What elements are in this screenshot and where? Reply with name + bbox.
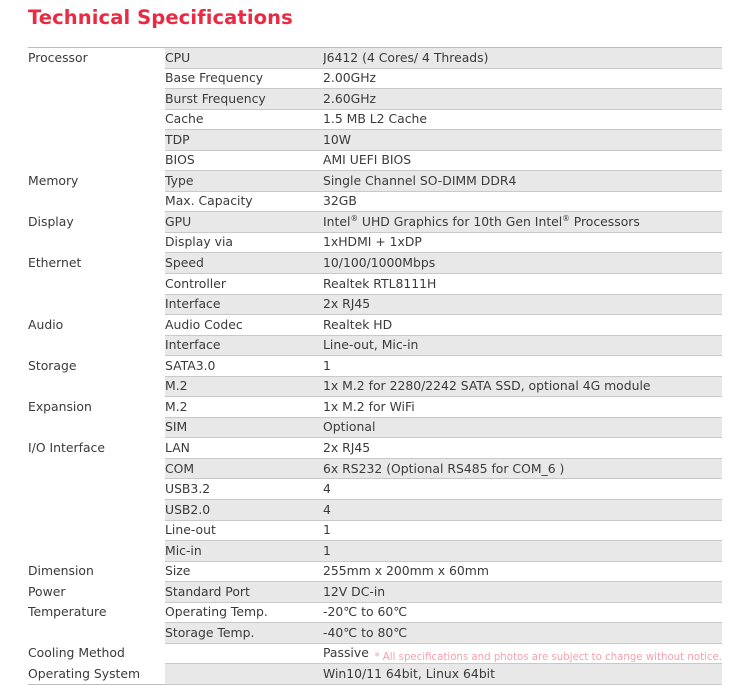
spec-category-cell bbox=[28, 150, 165, 171]
spec-subitem-cell: TDP bbox=[165, 130, 323, 151]
spec-category-cell: Memory bbox=[28, 171, 165, 192]
table-row: AudioAudio CodecRealtek HD bbox=[28, 315, 722, 336]
spec-subitem-cell bbox=[165, 643, 323, 664]
spec-value-cell: 2x RJ45 bbox=[323, 294, 722, 315]
spec-category-cell bbox=[28, 130, 165, 151]
spec-category-cell bbox=[28, 623, 165, 644]
table-row: Interface2x RJ45 bbox=[28, 294, 722, 315]
spec-subitem-cell: USB3.2 bbox=[165, 479, 323, 500]
table-row: MemoryTypeSingle Channel SO-DIMM DDR4 bbox=[28, 171, 722, 192]
spec-value-cell: Line-out, Mic-in bbox=[323, 335, 722, 356]
table-row: TDP10W bbox=[28, 130, 722, 151]
spec-category-cell: Dimension bbox=[28, 561, 165, 582]
spec-value-cell: 2x RJ45 bbox=[323, 438, 722, 459]
spec-value-cell: 10W bbox=[323, 130, 722, 151]
spec-value-cell: AMI UEFI BIOS bbox=[323, 150, 722, 171]
spec-subitem-cell: LAN bbox=[165, 438, 323, 459]
table-row: Mic-in1 bbox=[28, 541, 722, 562]
spec-subitem-cell: COM bbox=[165, 458, 323, 479]
spec-subitem-cell: GPU bbox=[165, 212, 323, 233]
spec-subitem-cell: Size bbox=[165, 561, 323, 582]
spec-value-cell: 2.60GHz bbox=[323, 89, 722, 110]
table-row: DimensionSize255mm x 200mm x 60mm bbox=[28, 561, 722, 582]
spec-category-cell bbox=[28, 89, 165, 110]
spec-subitem-cell: M.2 bbox=[165, 376, 323, 397]
spec-category-cell: Temperature bbox=[28, 602, 165, 623]
spec-subitem-cell: Cache bbox=[165, 109, 323, 130]
spec-value-cell: 4 bbox=[323, 500, 722, 521]
spec-value-cell: 1xHDMI + 1xDP bbox=[323, 232, 722, 253]
spec-value-cell: 1x M.2 for 2280/2242 SATA SSD, optional … bbox=[323, 376, 722, 397]
spec-category-cell bbox=[28, 294, 165, 315]
specifications-table: ProcessorCPUJ6412 (4 Cores/ 4 Threads)Ba… bbox=[28, 47, 722, 685]
table-row: InterfaceLine-out, Mic-in bbox=[28, 335, 722, 356]
spec-subitem-cell: Interface bbox=[165, 335, 323, 356]
spec-category-cell bbox=[28, 479, 165, 500]
table-row: Burst Frequency2.60GHz bbox=[28, 89, 722, 110]
spec-subitem-cell: Line-out bbox=[165, 520, 323, 541]
disclaimer-footnote: * All specifications and photos are subj… bbox=[374, 652, 722, 663]
spec-value-cell: Realtek RTL8111H bbox=[323, 274, 722, 295]
spec-subitem-cell: Controller bbox=[165, 274, 323, 295]
spec-value-cell: -20℃ to 60℃ bbox=[323, 602, 722, 623]
specifications-table-body: ProcessorCPUJ6412 (4 Cores/ 4 Threads)Ba… bbox=[28, 48, 722, 685]
table-row: ControllerRealtek RTL8111H bbox=[28, 274, 722, 295]
table-row: EthernetSpeed10/100/1000Mbps bbox=[28, 253, 722, 274]
spec-value-cell: -40℃ to 80℃ bbox=[323, 623, 722, 644]
spec-category-cell bbox=[28, 232, 165, 253]
spec-subitem-cell: SIM bbox=[165, 417, 323, 438]
spec-subitem-cell: Base Frequency bbox=[165, 68, 323, 89]
spec-value-cell: 1.5 MB L2 Cache bbox=[323, 109, 722, 130]
spec-category-cell bbox=[28, 335, 165, 356]
spec-category-cell bbox=[28, 109, 165, 130]
table-row: Base Frequency2.00GHz bbox=[28, 68, 722, 89]
table-row: M.21x M.2 for 2280/2242 SATA SSD, option… bbox=[28, 376, 722, 397]
spec-value-cell: 10/100/1000Mbps bbox=[323, 253, 722, 274]
page-title: Technical Specifications bbox=[28, 6, 293, 29]
table-row: USB2.04 bbox=[28, 500, 722, 521]
spec-category-cell: Display bbox=[28, 212, 165, 233]
table-row: USB3.24 bbox=[28, 479, 722, 500]
spec-category-cell bbox=[28, 417, 165, 438]
spec-subitem-cell: CPU bbox=[165, 48, 323, 69]
spec-category-cell bbox=[28, 68, 165, 89]
registered-trademark-icon: ® bbox=[350, 214, 358, 223]
spec-subitem-cell: USB2.0 bbox=[165, 500, 323, 521]
table-row: I/O InterfaceLAN2x RJ45 bbox=[28, 438, 722, 459]
table-row: Line-out1 bbox=[28, 520, 722, 541]
spec-subitem-cell: Max. Capacity bbox=[165, 191, 323, 212]
table-row: Display via1xHDMI + 1xDP bbox=[28, 232, 722, 253]
spec-value-cell: Realtek HD bbox=[323, 315, 722, 336]
table-row: BIOSAMI UEFI BIOS bbox=[28, 150, 722, 171]
spec-category-cell: Processor bbox=[28, 48, 165, 69]
spec-value-cell: Win10/11 64bit, Linux 64bit bbox=[323, 664, 722, 685]
table-row: Storage Temp.-40℃ to 80℃ bbox=[28, 623, 722, 644]
spec-subitem-cell: BIOS bbox=[165, 150, 323, 171]
registered-trademark-icon: ® bbox=[562, 214, 570, 223]
spec-category-cell: Operating System bbox=[28, 664, 165, 685]
spec-value-cell: 6x RS232 (Optional RS485 for COM_6 ) bbox=[323, 458, 722, 479]
spec-category-cell: Ethernet bbox=[28, 253, 165, 274]
table-row: ProcessorCPUJ6412 (4 Cores/ 4 Threads) bbox=[28, 48, 722, 69]
table-row: DisplayGPUIntel® UHD Graphics for 10th G… bbox=[28, 212, 722, 233]
spec-value-cell: 2.00GHz bbox=[323, 68, 722, 89]
spec-value-cell: 1 bbox=[323, 356, 722, 377]
spec-value-cell: J6412 (4 Cores/ 4 Threads) bbox=[323, 48, 722, 69]
spec-value-cell: Single Channel SO-DIMM DDR4 bbox=[323, 171, 722, 192]
spec-category-cell: Cooling Method bbox=[28, 643, 165, 664]
table-row: Operating SystemWin10/11 64bit, Linux 64… bbox=[28, 664, 722, 685]
spec-category-cell: Power bbox=[28, 582, 165, 603]
spec-value-cell: Optional bbox=[323, 417, 722, 438]
spec-subitem-cell: Standard Port bbox=[165, 582, 323, 603]
spec-subitem-cell: Interface bbox=[165, 294, 323, 315]
spec-category-cell: Audio bbox=[28, 315, 165, 336]
spec-subitem-cell: Audio Codec bbox=[165, 315, 323, 336]
table-row: TemperatureOperating Temp.-20℃ to 60℃ bbox=[28, 602, 722, 623]
spec-category-cell: I/O Interface bbox=[28, 438, 165, 459]
table-row: COM6x RS232 (Optional RS485 for COM_6 ) bbox=[28, 458, 722, 479]
table-row: Cache1.5 MB L2 Cache bbox=[28, 109, 722, 130]
table-row: ExpansionM.21x M.2 for WiFi bbox=[28, 397, 722, 418]
spec-value-cell: 255mm x 200mm x 60mm bbox=[323, 561, 722, 582]
spec-subitem-cell: Burst Frequency bbox=[165, 89, 323, 110]
spec-subitem-cell: Storage Temp. bbox=[165, 623, 323, 644]
spec-subitem-cell: SATA3.0 bbox=[165, 356, 323, 377]
spec-subitem-cell: Speed bbox=[165, 253, 323, 274]
spec-subitem-cell: Mic-in bbox=[165, 541, 323, 562]
spec-value-cell: 1 bbox=[323, 541, 722, 562]
spec-category-cell bbox=[28, 541, 165, 562]
spec-value-cell: Intel® UHD Graphics for 10th Gen Intel® … bbox=[323, 212, 722, 233]
spec-category-cell bbox=[28, 520, 165, 541]
spec-category-cell bbox=[28, 376, 165, 397]
spec-subitem-cell: M.2 bbox=[165, 397, 323, 418]
table-row: SIMOptional bbox=[28, 417, 722, 438]
table-row: PowerStandard Port12V DC-in bbox=[28, 582, 722, 603]
spec-value-cell: 4 bbox=[323, 479, 722, 500]
spec-category-cell: Storage bbox=[28, 356, 165, 377]
spec-subitem-cell: Operating Temp. bbox=[165, 602, 323, 623]
spec-category-cell bbox=[28, 500, 165, 521]
specifications-table-container: ProcessorCPUJ6412 (4 Cores/ 4 Threads)Ba… bbox=[28, 47, 722, 685]
spec-value-cell: 12V DC-in bbox=[323, 582, 722, 603]
spec-subitem-cell: Display via bbox=[165, 232, 323, 253]
table-row: StorageSATA3.01 bbox=[28, 356, 722, 377]
spec-value-cell: 1x M.2 for WiFi bbox=[323, 397, 722, 418]
table-row: Max. Capacity32GB bbox=[28, 191, 722, 212]
spec-category-cell bbox=[28, 274, 165, 295]
spec-category-cell bbox=[28, 458, 165, 479]
spec-category-cell: Expansion bbox=[28, 397, 165, 418]
spec-subitem-cell: Type bbox=[165, 171, 323, 192]
spec-subitem-cell bbox=[165, 664, 323, 685]
spec-value-cell: 32GB bbox=[323, 191, 722, 212]
spec-category-cell bbox=[28, 191, 165, 212]
spec-value-cell: 1 bbox=[323, 520, 722, 541]
